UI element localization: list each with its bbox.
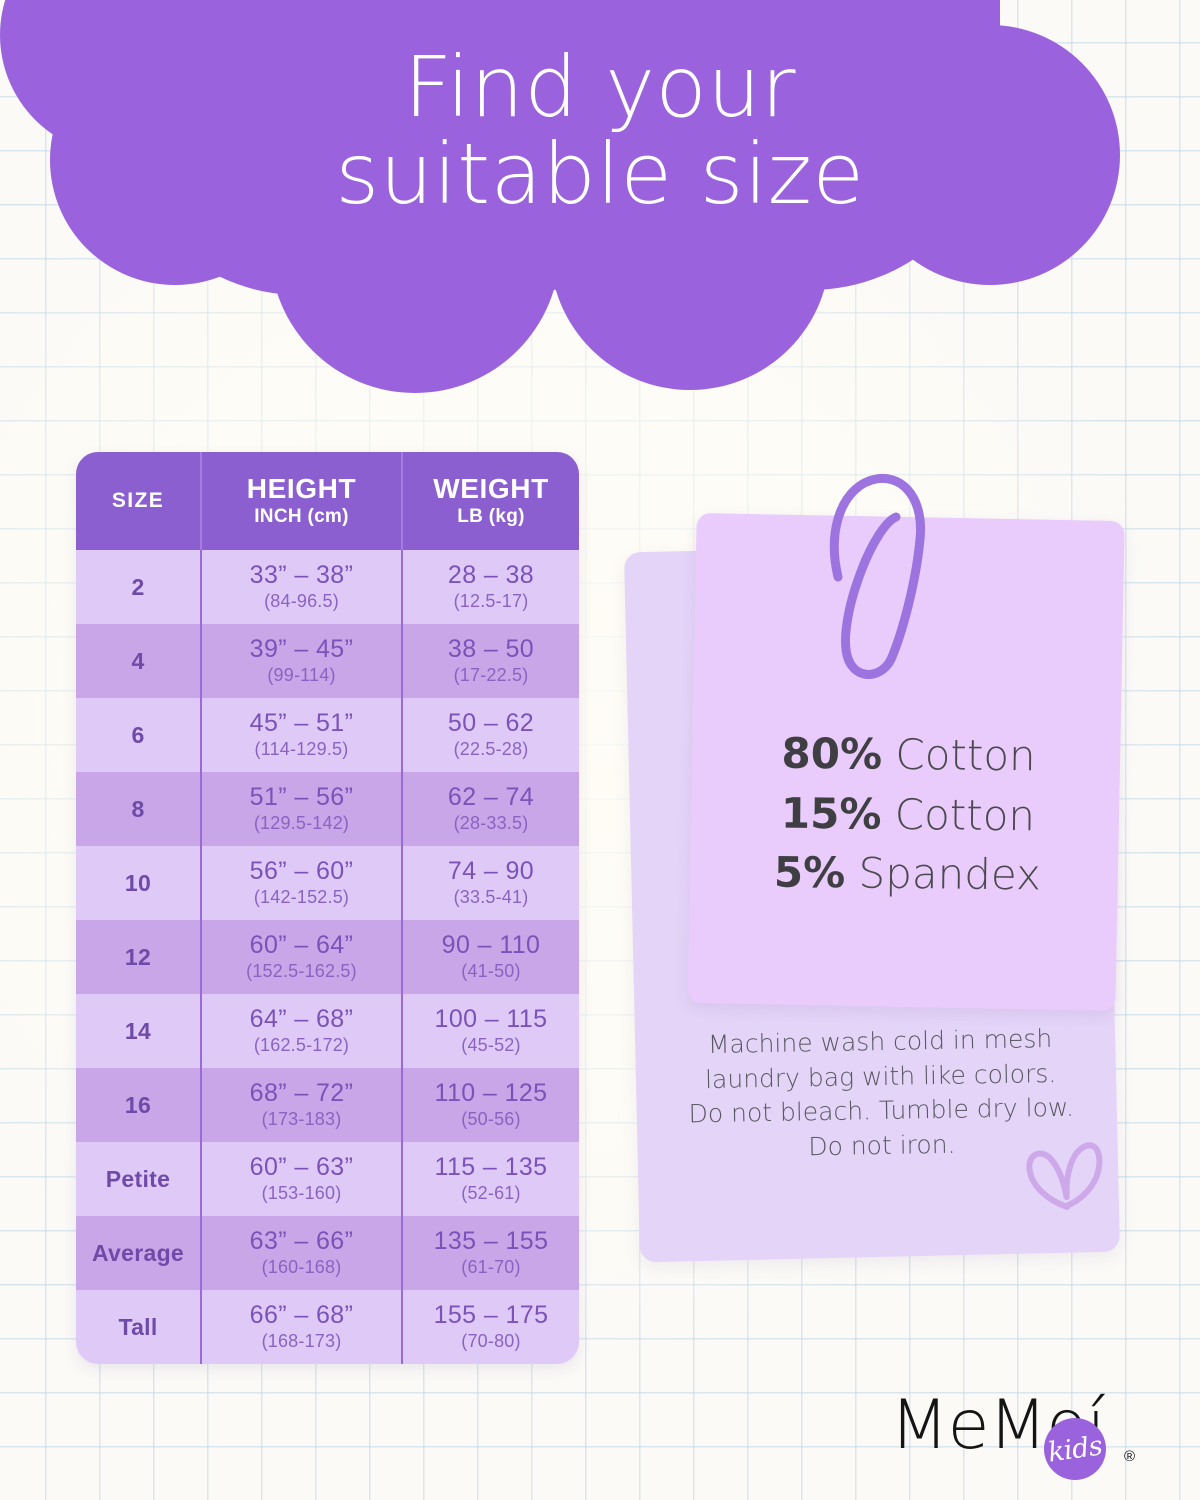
table-row: 645” – 51”(114-129.5)50 – 62(22.5-28) — [76, 698, 579, 772]
size-label: 8 — [131, 796, 144, 823]
table-header-row: SIZE HEIGHT INCH (cm) WEIGHT LB (kg) — [76, 452, 579, 550]
weight-kilograms: (17-22.5) — [454, 665, 529, 686]
cell-height: 60” – 64”(152.5-162.5) — [200, 920, 401, 994]
weight-pounds: 135 – 155 — [434, 1228, 549, 1256]
table-row: Tall66” – 68”(168-173)155 – 175(70-80) — [76, 1290, 579, 1364]
height-inches: 66” – 68” — [250, 1302, 354, 1330]
height-centimeters: (84-96.5) — [264, 591, 339, 612]
composition-percent: 5% — [774, 848, 846, 898]
cell-height: 51” – 56”(129.5-142) — [200, 772, 401, 846]
cell-weight: 100 – 115(45-52) — [401, 994, 579, 1068]
cell-weight: 62 – 74(28-33.5) — [401, 772, 579, 846]
weight-kilograms: (70-80) — [461, 1331, 520, 1352]
height-inches: 63” – 66” — [250, 1228, 354, 1256]
height-centimeters: (114-129.5) — [255, 739, 349, 760]
size-label: Petite — [106, 1166, 170, 1193]
weight-pounds: 90 – 110 — [442, 932, 541, 960]
paperclip-icon — [818, 465, 938, 685]
table-row: 439” – 45”(99-114)38 – 50(17-22.5) — [76, 624, 579, 698]
height-centimeters: (162.5-172) — [254, 1035, 349, 1056]
weight-pounds: 110 – 125 — [435, 1080, 548, 1108]
material-composition: 80% Cotton 15% Cotton 5% Spandex — [697, 723, 1119, 906]
height-inches: 60” – 64” — [250, 932, 354, 960]
height-inches: 51” – 56” — [250, 784, 354, 812]
cell-height: 66” – 68”(168-173) — [200, 1290, 401, 1364]
cell-height: 45” – 51”(114-129.5) — [200, 698, 401, 772]
column-header-size: SIZE — [76, 452, 200, 550]
size-chart-table: SIZE HEIGHT INCH (cm) WEIGHT LB (kg) 233… — [76, 452, 579, 1364]
cell-size: 2 — [76, 550, 200, 624]
logo-badge-text: kids — [1046, 1430, 1104, 1468]
height-inches: 64” – 68” — [250, 1006, 354, 1034]
cell-height: 68” – 72”(173-183) — [200, 1068, 401, 1142]
size-label: 16 — [125, 1092, 151, 1119]
weight-pounds: 38 – 50 — [448, 636, 534, 664]
brand-logo: MeMoí kids ® — [890, 1392, 1150, 1482]
column-header-height: HEIGHT INCH (cm) — [200, 452, 401, 550]
cell-size: 10 — [76, 846, 200, 920]
size-label: 10 — [125, 870, 151, 897]
weight-kilograms: (22.5-28) — [454, 739, 529, 760]
composition-percent: 80% — [781, 729, 882, 779]
height-centimeters: (129.5-142) — [254, 813, 349, 834]
weight-kilograms: (28-33.5) — [454, 813, 529, 834]
column-header-weight: WEIGHT LB (kg) — [401, 452, 579, 550]
table-row: Petite60” – 63”(153-160)115 – 135(52-61) — [76, 1142, 579, 1216]
composition-percent: 15% — [781, 788, 882, 838]
cell-weight: 155 – 175(70-80) — [401, 1290, 579, 1364]
weight-pounds: 62 – 74 — [448, 784, 534, 812]
weight-kilograms: (33.5-41) — [454, 887, 529, 908]
height-inches: 33” – 38” — [250, 562, 354, 590]
cell-size: 16 — [76, 1068, 200, 1142]
composition-line: 15% Cotton — [698, 782, 1119, 846]
table-body: 233” – 38”(84-96.5)28 – 38(12.5-17)439” … — [76, 550, 579, 1364]
cell-size: 6 — [76, 698, 200, 772]
fabric-care-note-stack: 80% Cotton 15% Cotton 5% Spandex Machine… — [620, 495, 1140, 1270]
size-label: Average — [92, 1240, 184, 1267]
cell-size: 14 — [76, 994, 200, 1068]
weight-pounds: 115 – 135 — [435, 1154, 548, 1182]
weight-pounds: 50 – 62 — [448, 710, 534, 738]
weight-kilograms: (45-52) — [461, 1035, 520, 1056]
registered-trademark-icon: ® — [1124, 1448, 1135, 1465]
cell-size: 4 — [76, 624, 200, 698]
cell-height: 64” – 68”(162.5-172) — [200, 994, 401, 1068]
weight-kilograms: (41-50) — [461, 961, 520, 982]
table-row: Average63” – 66”(160-168)135 – 155(61-70… — [76, 1216, 579, 1290]
weight-pounds: 74 – 90 — [448, 858, 534, 886]
height-inches: 39” – 45” — [250, 636, 354, 664]
size-label: 12 — [125, 944, 151, 971]
height-centimeters: (168-173) — [262, 1331, 342, 1352]
table-row: 233” – 38”(84-96.5)28 – 38(12.5-17) — [76, 550, 579, 624]
weight-kilograms: (12.5-17) — [454, 591, 529, 612]
size-label: 14 — [125, 1018, 151, 1045]
cell-height: 39” – 45”(99-114) — [200, 624, 401, 698]
cell-size: 12 — [76, 920, 200, 994]
height-centimeters: (160-168) — [262, 1257, 342, 1278]
cell-weight: 28 – 38(12.5-17) — [401, 550, 579, 624]
size-label: Tall — [118, 1314, 157, 1341]
weight-pounds: 28 – 38 — [448, 562, 534, 590]
cell-size: Petite — [76, 1142, 200, 1216]
weight-kilograms: (50-56) — [461, 1109, 520, 1130]
weight-kilograms: (52-61) — [461, 1183, 520, 1204]
cell-weight: 135 – 155(61-70) — [401, 1216, 579, 1290]
table-row: 1668” – 72”(173-183)110 – 125(50-56) — [76, 1068, 579, 1142]
height-inches: 60” – 63” — [250, 1154, 354, 1182]
table-row: 1056” – 60”(142-152.5)74 – 90(33.5-41) — [76, 846, 579, 920]
composition-line: 80% Cotton — [698, 723, 1119, 787]
table-row: 851” – 56”(129.5-142)62 – 74(28-33.5) — [76, 772, 579, 846]
composition-material: Spandex — [858, 849, 1041, 900]
composition-line: 5% Spandex — [697, 842, 1118, 906]
cell-weight: 90 – 110(41-50) — [401, 920, 579, 994]
cell-size: Average — [76, 1216, 200, 1290]
weight-pounds: 100 – 115 — [435, 1006, 548, 1034]
height-inches: 68” – 72” — [250, 1080, 354, 1108]
height-inches: 56” – 60” — [250, 858, 354, 886]
table-row: 1464” – 68”(162.5-172)100 – 115(45-52) — [76, 994, 579, 1068]
height-centimeters: (142-152.5) — [254, 887, 349, 908]
height-centimeters: (153-160) — [262, 1183, 342, 1204]
cell-height: 56” – 60”(142-152.5) — [200, 846, 401, 920]
cell-size: Tall — [76, 1290, 200, 1364]
cell-height: 63” – 66”(160-168) — [200, 1216, 401, 1290]
height-inches: 45” – 51” — [250, 710, 354, 738]
size-label: 6 — [131, 722, 144, 749]
composition-material: Cotton — [895, 730, 1036, 780]
cell-weight: 50 – 62(22.5-28) — [401, 698, 579, 772]
size-label: 2 — [131, 574, 144, 601]
size-label: 4 — [131, 648, 144, 675]
cell-height: 33” – 38”(84-96.5) — [200, 550, 401, 624]
composition-material: Cotton — [895, 789, 1036, 839]
cell-weight: 115 – 135(52-61) — [401, 1142, 579, 1216]
heart-doodle-icon — [1018, 1133, 1111, 1226]
cell-weight: 110 – 125(50-56) — [401, 1068, 579, 1142]
weight-pounds: 155 – 175 — [434, 1302, 549, 1330]
page-title: Find your suitable size — [0, 44, 1200, 217]
height-centimeters: (152.5-162.5) — [246, 961, 357, 982]
cell-size: 8 — [76, 772, 200, 846]
cell-weight: 38 – 50(17-22.5) — [401, 624, 579, 698]
cell-height: 60” – 63”(153-160) — [200, 1142, 401, 1216]
height-centimeters: (173-183) — [262, 1109, 342, 1130]
table-row: 1260” – 64”(152.5-162.5)90 – 110(41-50) — [76, 920, 579, 994]
logo-kids-badge: kids — [1044, 1418, 1106, 1480]
height-centimeters: (99-114) — [267, 665, 335, 686]
weight-kilograms: (61-70) — [461, 1257, 520, 1278]
cell-weight: 74 – 90(33.5-41) — [401, 846, 579, 920]
